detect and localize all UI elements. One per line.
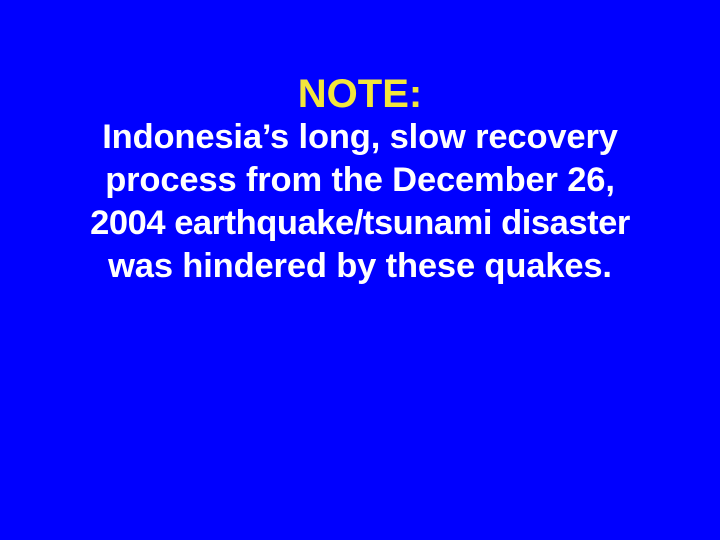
- slide-body-line-1: Indonesia’s long, slow recovery: [0, 116, 720, 159]
- slide-text-block: NOTE: Indonesia’s long, slow recovery pr…: [0, 0, 720, 288]
- slide-body-line-3: 2004 earthquake/tsunami disaster: [0, 202, 720, 245]
- slide-body-line-4: was hindered by these quakes.: [0, 245, 720, 288]
- slide-body-line-2: process from the December 26,: [0, 159, 720, 202]
- presentation-slide: NOTE: Indonesia’s long, slow recovery pr…: [0, 0, 720, 540]
- slide-title: NOTE:: [0, 72, 720, 116]
